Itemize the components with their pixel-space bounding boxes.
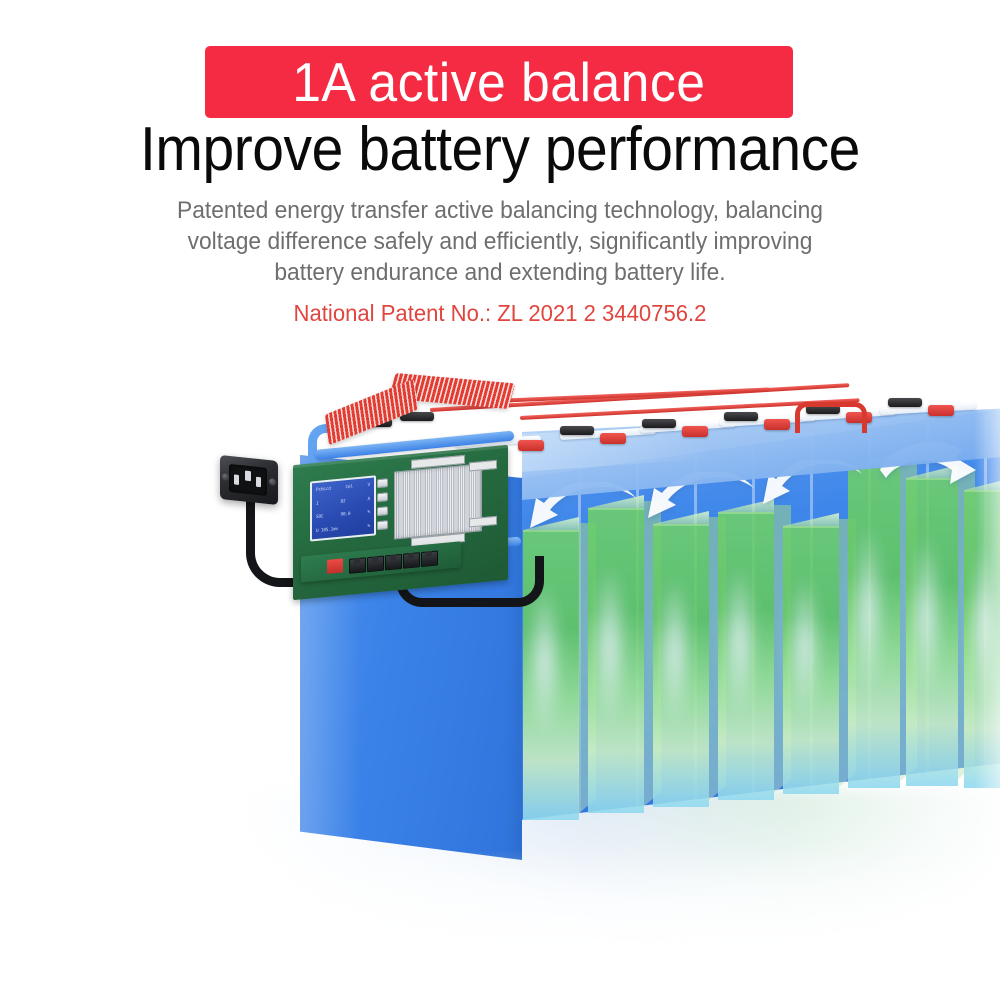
positive-terminal-cap: [600, 433, 626, 444]
power-inlet-connector: [220, 455, 278, 505]
badge-label: 1A active balance: [292, 55, 705, 110]
negative-terminal-cap: [724, 412, 758, 421]
inlet-screw: [269, 478, 276, 486]
inlet-face: [229, 464, 267, 496]
positive-terminal-cap: [682, 426, 708, 437]
description-line-1: Patented energy transfer active balancin…: [139, 195, 861, 226]
description-line-3: battery endurance and extending battery …: [139, 257, 861, 288]
lcd-row: U 105.1mv %: [316, 524, 370, 534]
rj45-port: [385, 554, 402, 571]
positive-terminal-cap: [928, 405, 954, 416]
description-line-2: voltage difference safely and efficientl…: [139, 226, 861, 257]
description-paragraph: Patented energy transfer active balancin…: [139, 195, 861, 288]
aluminium-heatsink: [394, 463, 482, 539]
board-button: [377, 520, 388, 530]
rj45-port: [349, 557, 366, 574]
board-button: [377, 506, 388, 516]
bms-board: PcbLcd Cel V I 82 A SOC 98.0 %: [293, 445, 508, 600]
energy-bar: [718, 512, 774, 800]
positive-terminal-cap: [764, 419, 790, 430]
badge-1a-active-balance: 1A active balance: [205, 46, 793, 118]
lcd-row: I 82 A: [316, 497, 370, 507]
inlet-pin: [256, 477, 261, 488]
busbar: [470, 387, 770, 404]
page-title: Improve battery performance: [40, 113, 960, 187]
energy-bar: [906, 478, 958, 786]
battery-pack-illustration: PcbLcd Cel V I 82 A SOC 98.0 %: [0, 360, 1000, 1000]
negative-terminal-cap: [642, 419, 676, 428]
board-button: [377, 492, 388, 502]
lcd-row: PcbLcd Cel V: [316, 483, 370, 493]
rj45-port: [403, 552, 420, 569]
red-terminal-block: [327, 558, 343, 574]
edge-fade-bottom: [0, 850, 1000, 1000]
negative-terminal-cap: [560, 426, 594, 435]
positive-terminal-cap: [518, 440, 544, 451]
patent-number-text: National Patent No.: ZL 2021 2 3440756.2: [20, 298, 980, 328]
inlet-pin: [245, 471, 251, 482]
energy-bar: [588, 508, 644, 813]
balance-ribbon-cable: [325, 379, 418, 446]
energy-bar: [783, 526, 839, 794]
rj45-port: [367, 556, 384, 573]
lcd-display: PcbLcd Cel V I 82 A SOC 98.0 %: [310, 475, 376, 541]
carry-handle: [795, 402, 867, 433]
product-banner: 1A active balance Improve battery perfor…: [0, 0, 1000, 1000]
lcd-row: SOC 98.0 %: [316, 510, 370, 520]
negative-terminal-cap: [888, 398, 922, 407]
board-button: [377, 478, 388, 488]
rj45-port: [421, 550, 438, 567]
inlet-screw: [222, 473, 229, 481]
inlet-pin: [234, 474, 239, 485]
energy-bar: [653, 524, 709, 807]
